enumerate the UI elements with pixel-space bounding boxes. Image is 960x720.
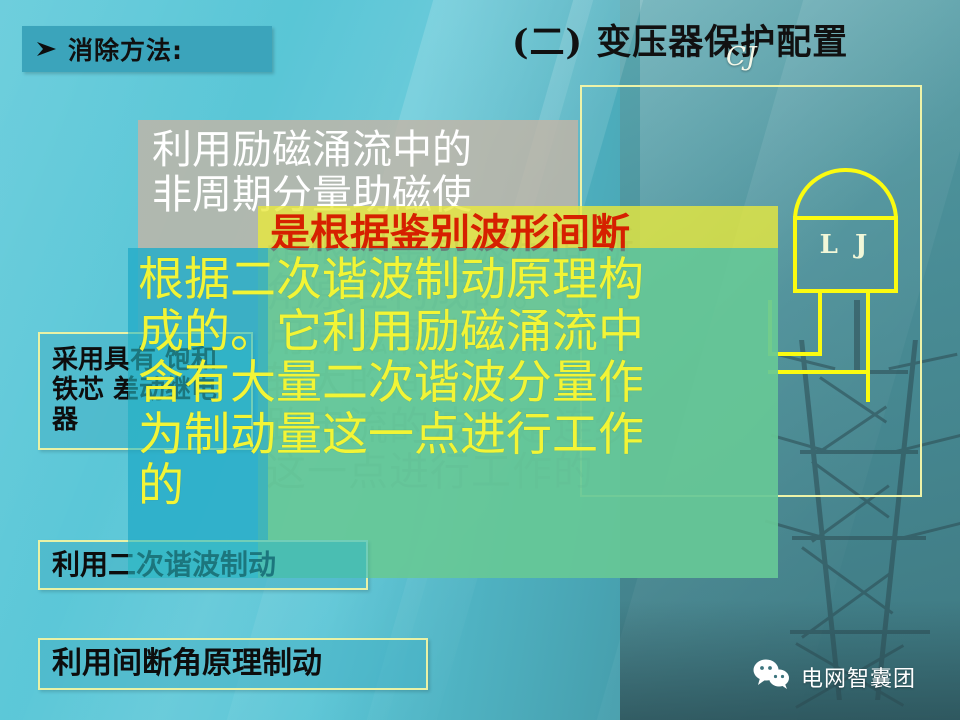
wechat-icon bbox=[752, 658, 792, 695]
relay-dome-shape bbox=[793, 168, 898, 220]
circuit-lower-branch-wire bbox=[768, 370, 868, 374]
list-item-discontinuity-angle[interactable]: 利用间断角原理制动 bbox=[38, 638, 428, 690]
section-header-badge: 消除方法: bbox=[22, 26, 272, 72]
relay-left-lead-wire bbox=[818, 290, 822, 356]
relay-lj-symbol: L J bbox=[793, 168, 898, 293]
relay-label: L J bbox=[793, 230, 898, 260]
page-title: (二) 变压器保护配置 bbox=[512, 14, 848, 65]
relay-right-lead-wire bbox=[866, 290, 870, 402]
arrow-bullet-icon bbox=[36, 40, 58, 58]
slide-canvas: (二) 变压器保护配置 CJ 消除方法: L J 利用励磁涌流中的 非周期分量助… bbox=[0, 0, 960, 720]
panel-second-harmonic-principle: 根据二次谐波制动原理构 成的。它利用励磁涌流中 含有大量二次谐波分量作 为制动量… bbox=[128, 248, 778, 578]
section-header-label: 消除方法: bbox=[68, 31, 183, 67]
wechat-watermark: 电网智囊团 bbox=[752, 658, 916, 695]
cj-terminal-label: CJ bbox=[726, 42, 756, 72]
wechat-watermark-label: 电网智囊团 bbox=[801, 661, 916, 693]
